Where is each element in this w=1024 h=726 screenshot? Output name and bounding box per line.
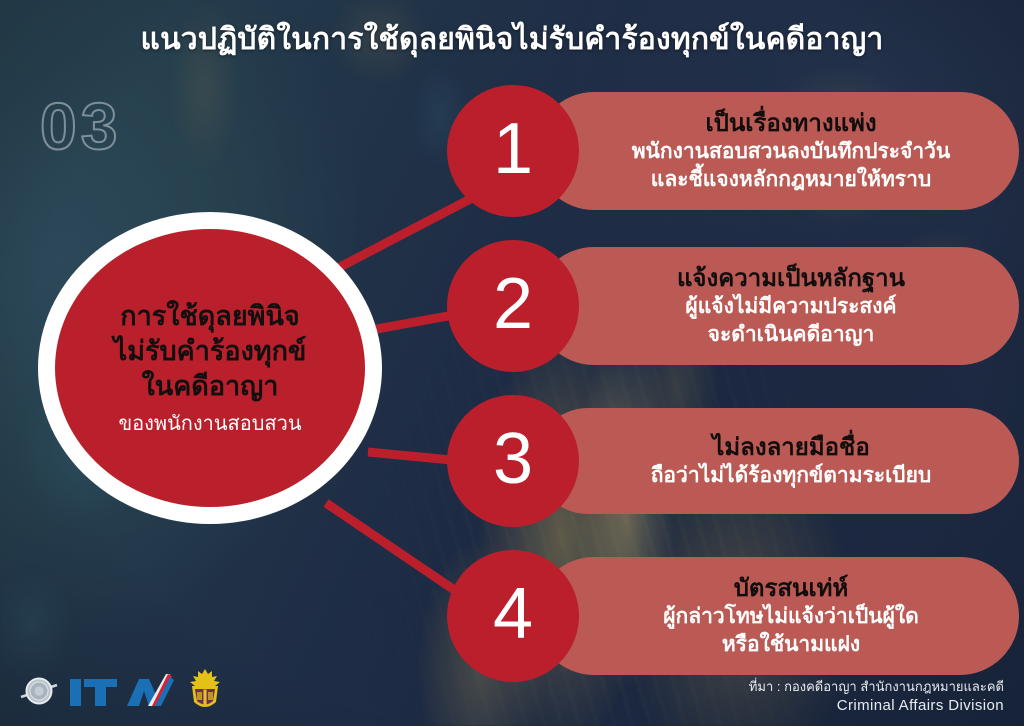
item-heading-2: แจ้งความเป็นหลักฐาน (677, 264, 905, 293)
item-desc-1-line-2: และชี้แจงหลักกฎหมายให้ทราบ (651, 167, 931, 193)
infographic-canvas: แนวปฏิบัติในการใช้ดุลยพินิจไม่รับคำร้องท… (0, 0, 1024, 726)
hub-line-2: ไม่รับคำร้องทุกข์ (114, 334, 307, 369)
item-heading-4: บัตรสนเท่ห์ (734, 574, 849, 603)
item-number-2: 2 (493, 268, 533, 340)
item-pill-4: บัตรสนเท่ห์ ผู้กล่าวโทษไม่แจ้งว่าเป็นผู้… (535, 557, 1019, 675)
royal-thai-police-emblem-icon (186, 668, 224, 714)
hub-subtitle: ของพนักงานสอบสวน (118, 411, 301, 437)
item-pill-2: แจ้งความเป็นหลักฐาน ผู้แจ้งไม่มีความประส… (535, 247, 1019, 365)
item-heading-3: ไม่ลงลายมือชื่อ (712, 433, 870, 462)
source-credit-english: Criminal Affairs Division (749, 696, 1004, 716)
item-desc-2-line-1: ผู้แจ้งไม่มีความประสงค์ (685, 294, 896, 320)
item-desc-4-line-1: ผู้กล่าวโทษไม่แจ้งว่าเป็นผู้ใด (663, 604, 919, 630)
item-pill-1: เป็นเรื่องทางแพ่ง พนักงานสอบสวนลงบันทึกป… (535, 92, 1019, 210)
connector-line-1 (338, 196, 476, 268)
item-number-bubble-3: 3 (447, 395, 579, 527)
item-heading-1: เป็นเรื่องทางแพ่ง (705, 109, 876, 138)
item-number-4: 4 (493, 578, 533, 650)
hub-line-3: ในคดีอาญา (142, 369, 279, 404)
ita-logo-icon (69, 671, 177, 711)
item-desc-2-line-2: จะดำเนินคดีอาญา (708, 322, 875, 348)
item-number-bubble-4: 4 (447, 550, 579, 682)
item-number-3: 3 (493, 423, 533, 495)
logo-group (18, 668, 224, 714)
hub-line-1: การใช้ดุลยพินิจ (120, 299, 300, 334)
item-desc-4-line-2: หรือใช้นามแฝง (722, 632, 860, 658)
item-desc-3-line-1: ถือว่าไม่ได้ร้องทุกข์ตามระเบียบ (651, 463, 932, 489)
source-credit-thai: ที่มา : กองคดีอาญา สำนักงานกฎหมายและคดี (749, 678, 1004, 696)
hub-circle: การใช้ดุลยพินิจ ไม่รับคำร้องทุกข์ ในคดีอ… (38, 212, 382, 524)
item-pill-3: ไม่ลงลายมือชื่อ ถือว่าไม่ได้ร้องทุกข์ตาม… (535, 408, 1019, 514)
item-number-1: 1 (493, 113, 533, 185)
item-number-bubble-2: 2 (447, 240, 579, 372)
source-credit: ที่มา : กองคดีอาญา สำนักงานกฎหมายและคดี … (749, 678, 1004, 716)
item-desc-1-line-1: พนักงานสอบสวนลงบันทึกประจำวัน (632, 139, 951, 165)
police-medallion-logo-icon (18, 670, 60, 712)
item-number-bubble-1: 1 (447, 85, 579, 217)
